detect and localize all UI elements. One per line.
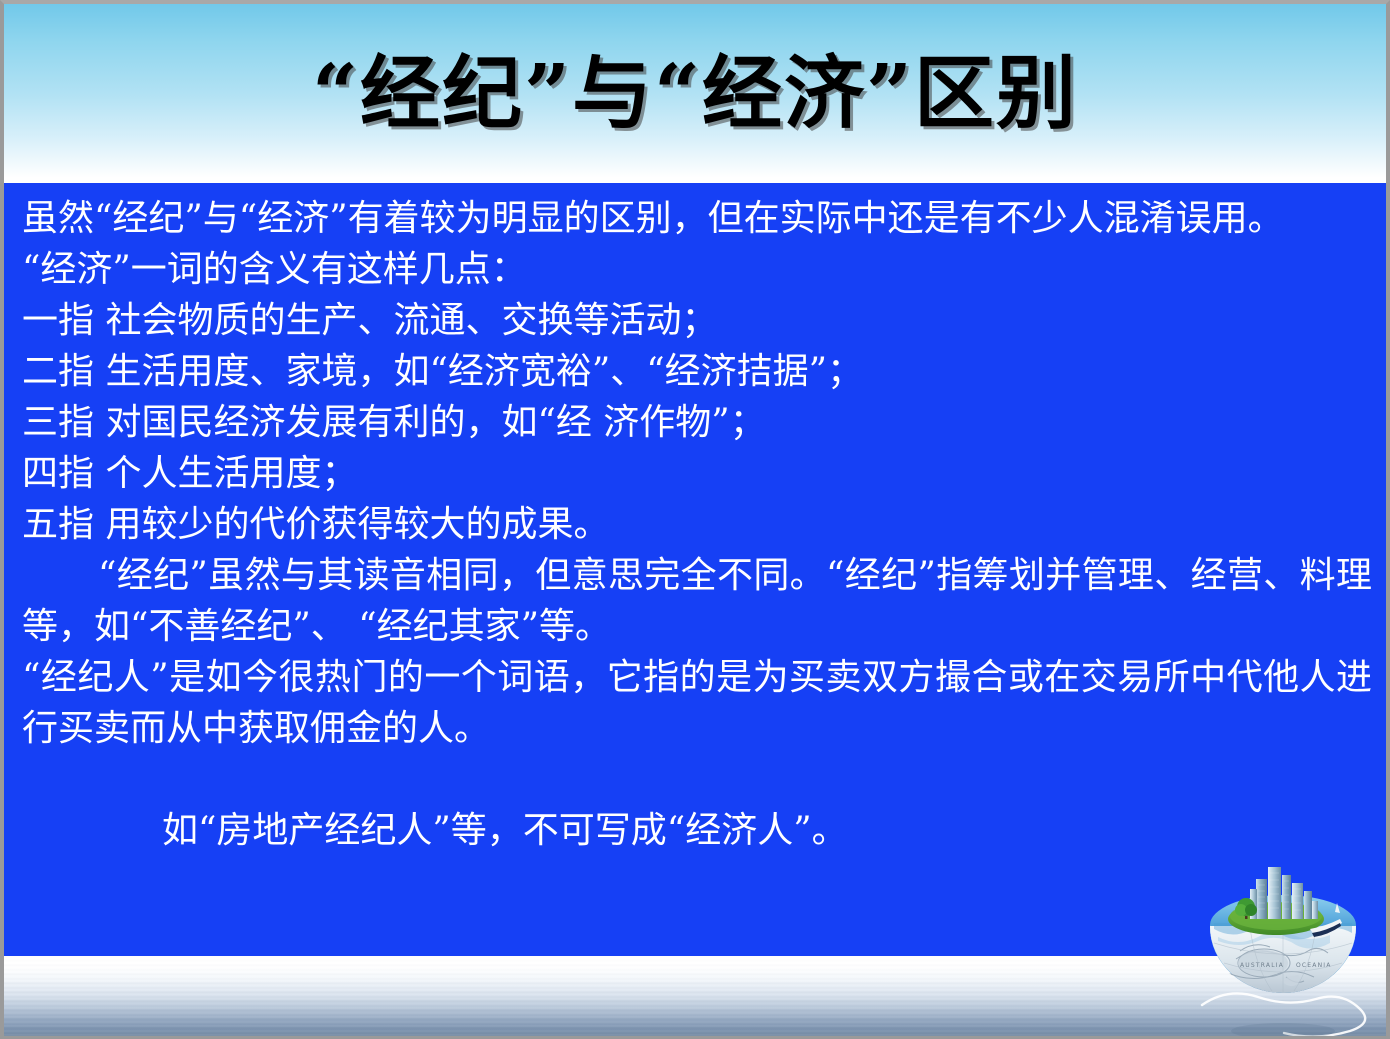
- body-text-block: 虽然“经纪”与“经济”有着较为明显的区别，但在实际中还是有不少人混淆误用。 “经…: [22, 193, 1372, 856]
- paragraph-item-4: 四指 个人生活用度；: [22, 448, 1372, 499]
- paragraph-item-5: 五指 用较少的代价获得较大的成果。: [22, 499, 1372, 550]
- paragraph-item-1: 一指 社会物质的生产、流通、交换等活动；: [22, 295, 1372, 346]
- paragraph-broker: “经纪人”是如今很热门的一个词语，它指的是为买卖双方撮合或在交易所中代他人进行买…: [22, 652, 1372, 754]
- paragraph-item-2: 二指 生活用度、家境，如“经济宽裕”、“经济拮据”；: [22, 346, 1372, 397]
- paragraph-intro: 虽然“经纪”与“经济”有着较为明显的区别，但在实际中还是有不少人混淆误用。: [22, 193, 1372, 244]
- globe-city-illustration: AUSTRALIA OCEANIA: [1194, 855, 1372, 1039]
- globe-reflection: [1231, 1023, 1335, 1039]
- content-panel: 虽然“经纪”与“经济”有着较为明显的区别，但在实际中还是有不少人混淆误用。 “经…: [4, 183, 1386, 956]
- svg-text:OCEANIA: OCEANIA: [1296, 962, 1332, 969]
- paragraph-jingji-definition: “经纪”虽然与其读音相同，但意思完全不同。“经纪”指筹划并管理、经营、料理等，如…: [22, 550, 1372, 652]
- paragraph-item-3: 三指 对国民经济发展有利的，如“经 济作物”；: [22, 397, 1372, 448]
- paragraph-jingji-lead: “经济”一词的含义有这样几点：: [22, 244, 1372, 295]
- paragraph-spacer: [22, 754, 1372, 805]
- paragraph-example: 如“房地产经纪人”等，不可写成“经济人”。: [22, 805, 1372, 856]
- page-title: “经纪”与“经济”区别: [312, 53, 1078, 133]
- presentation-slide: “经纪”与“经济”区别 虽然“经纪”与“经济”有着较为明显的区别，但在实际中还是…: [0, 0, 1390, 1039]
- svg-text:AUSTRALIA: AUSTRALIA: [1240, 962, 1284, 969]
- title-banner: “经纪”与“经济”区别: [4, 4, 1386, 182]
- city-skyline: [1250, 867, 1318, 919]
